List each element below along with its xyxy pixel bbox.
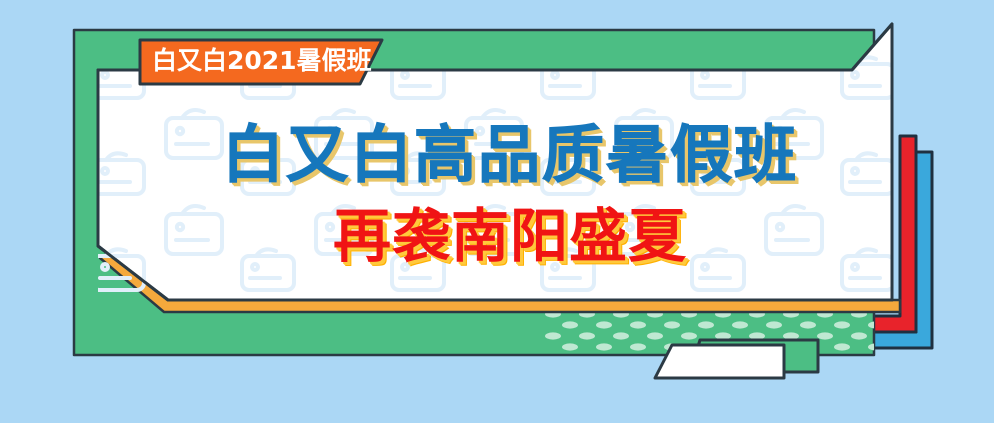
- poster-artwork: [0, 0, 994, 423]
- white-parallelogram: [655, 345, 784, 378]
- orange-title-tag: [140, 40, 382, 84]
- poster-canvas: 白又白2021暑假班 白又白高品质暑假班 再袭南阳盛夏: [0, 0, 994, 423]
